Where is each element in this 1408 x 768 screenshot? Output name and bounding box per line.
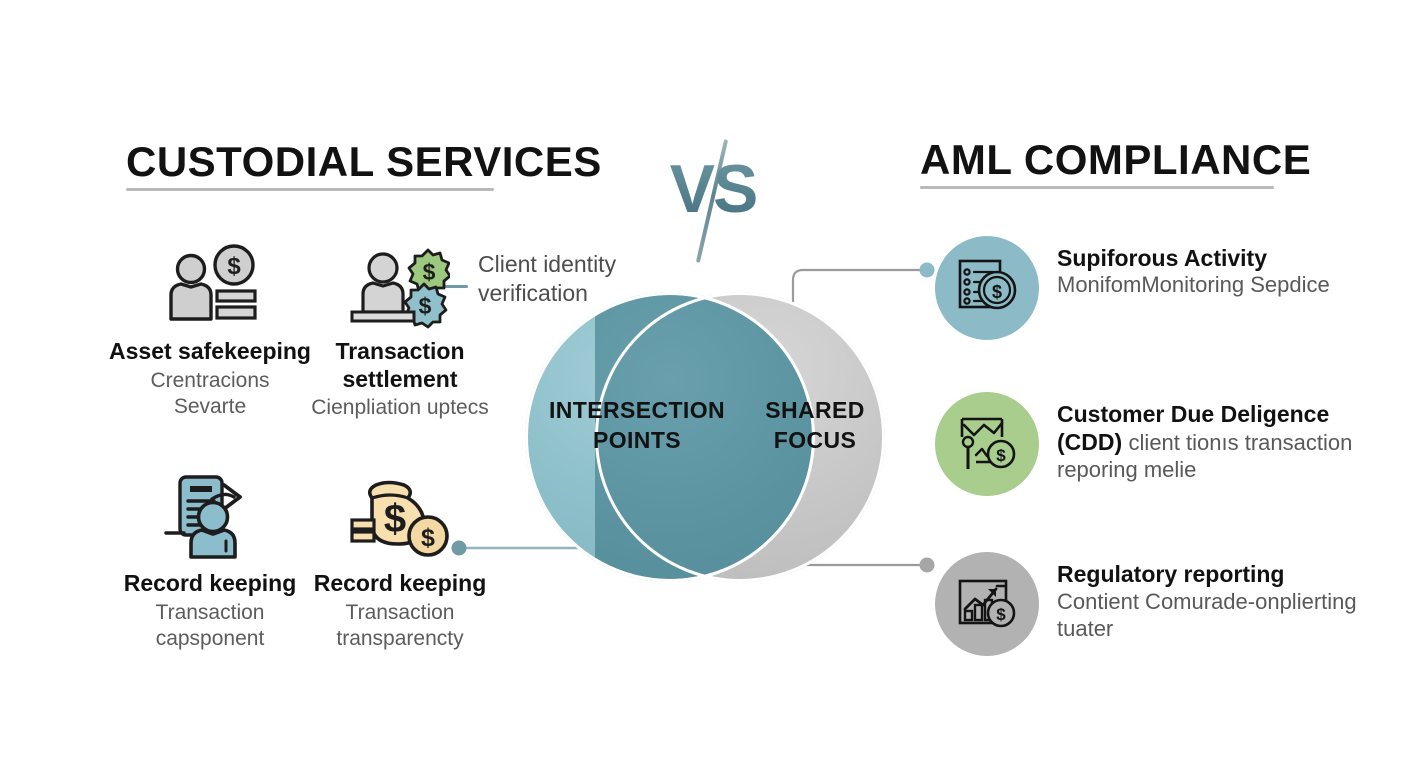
feature-subtitle: Transaction capsponent [105,600,315,653]
feature-subtitle: Transaction transparencty [300,600,500,653]
aml-item-text: Supiforous Activity MonifomMonitoring Se… [1057,236,1365,299]
person-gear-dollar-icon: $ $ [300,240,500,332]
right-column-title: AML COMPLIANCE [920,136,1311,184]
document-person-arrow-icon [105,472,315,564]
checklist-dollar-icon: $ [935,236,1039,340]
svg-text:$: $ [996,446,1006,465]
left-title-underline [126,188,494,191]
aml-item-title: Regulatory reporting [1057,561,1284,587]
feature-transaction-settlement: $ $ Transaction settlement Cienpliation … [300,240,500,421]
svg-text:$: $ [996,605,1006,624]
feature-record-keeping-component: Record keeping Transaction capsponent [105,472,315,652]
venn-diagram: INTERSECTION POINTS SHARED FOCUS [525,292,885,582]
venn-label-shared-focus: SHARED FOCUS [725,395,905,456]
aml-item-text: Regulatory reporting Contient Comurade-o… [1057,552,1365,642]
chart-magnifier-dollar-icon: $ [935,392,1039,496]
aml-item-text: Customer Due Deligence (CDD) client tion… [1057,392,1365,484]
svg-text:$: $ [227,253,241,280]
svg-text:$: $ [419,293,432,319]
callout-client-identity-verification: Client identity verification [478,250,668,309]
feature-title: Record keeping [105,570,315,598]
venn-label-intersection-points: INTERSECTION POINTS [517,395,757,456]
aml-item-customer-due-diligence: $ Customer Due Deligence (CDD) client ti… [935,392,1365,496]
feature-record-keeping-transparency: $ $ Record keeping Transaction transpare… [300,472,500,652]
money-bag-coin-icon: $ $ [300,472,500,564]
aml-item-regulatory-reporting: $ Regulatory reporting Contient Comurade… [935,552,1365,656]
left-column-title: CUSTODIAL SERVICES [126,138,602,186]
feature-title: Asset safekeeping [105,338,315,366]
aml-item-suspicious-activity: $ Supiforous Activity MonifomMonitoring … [935,236,1365,340]
feature-asset-safekeeping: $ Asset safekeeping Crentracions Sevarte [105,240,315,420]
feature-subtitle: Cienpliation uptecs [300,395,500,421]
feature-title: Record keeping [300,570,500,598]
svg-text:$: $ [384,497,406,541]
infographic-canvas: CUSTODIAL SERVICES AML COMPLIANCE VS INT… [0,0,1408,768]
svg-text:$: $ [992,282,1002,302]
aml-item-title: Supiforous Activity [1057,245,1267,271]
aml-item-subtitle: MonifomMonitoring Sepdice [1057,272,1330,297]
feature-subtitle: Crentracions Sevarte [105,368,315,421]
bar-chart-dollar-icon: $ [935,552,1039,656]
right-title-underline [920,186,1274,189]
svg-text:$: $ [423,259,436,285]
aml-item-subtitle: Contient Comurade-onplierting tuater [1057,589,1357,641]
feature-title: Transaction settlement [300,338,500,393]
person-money-icon: $ [105,240,315,332]
svg-text:$: $ [421,524,435,552]
versus-label: VS [648,150,778,228]
